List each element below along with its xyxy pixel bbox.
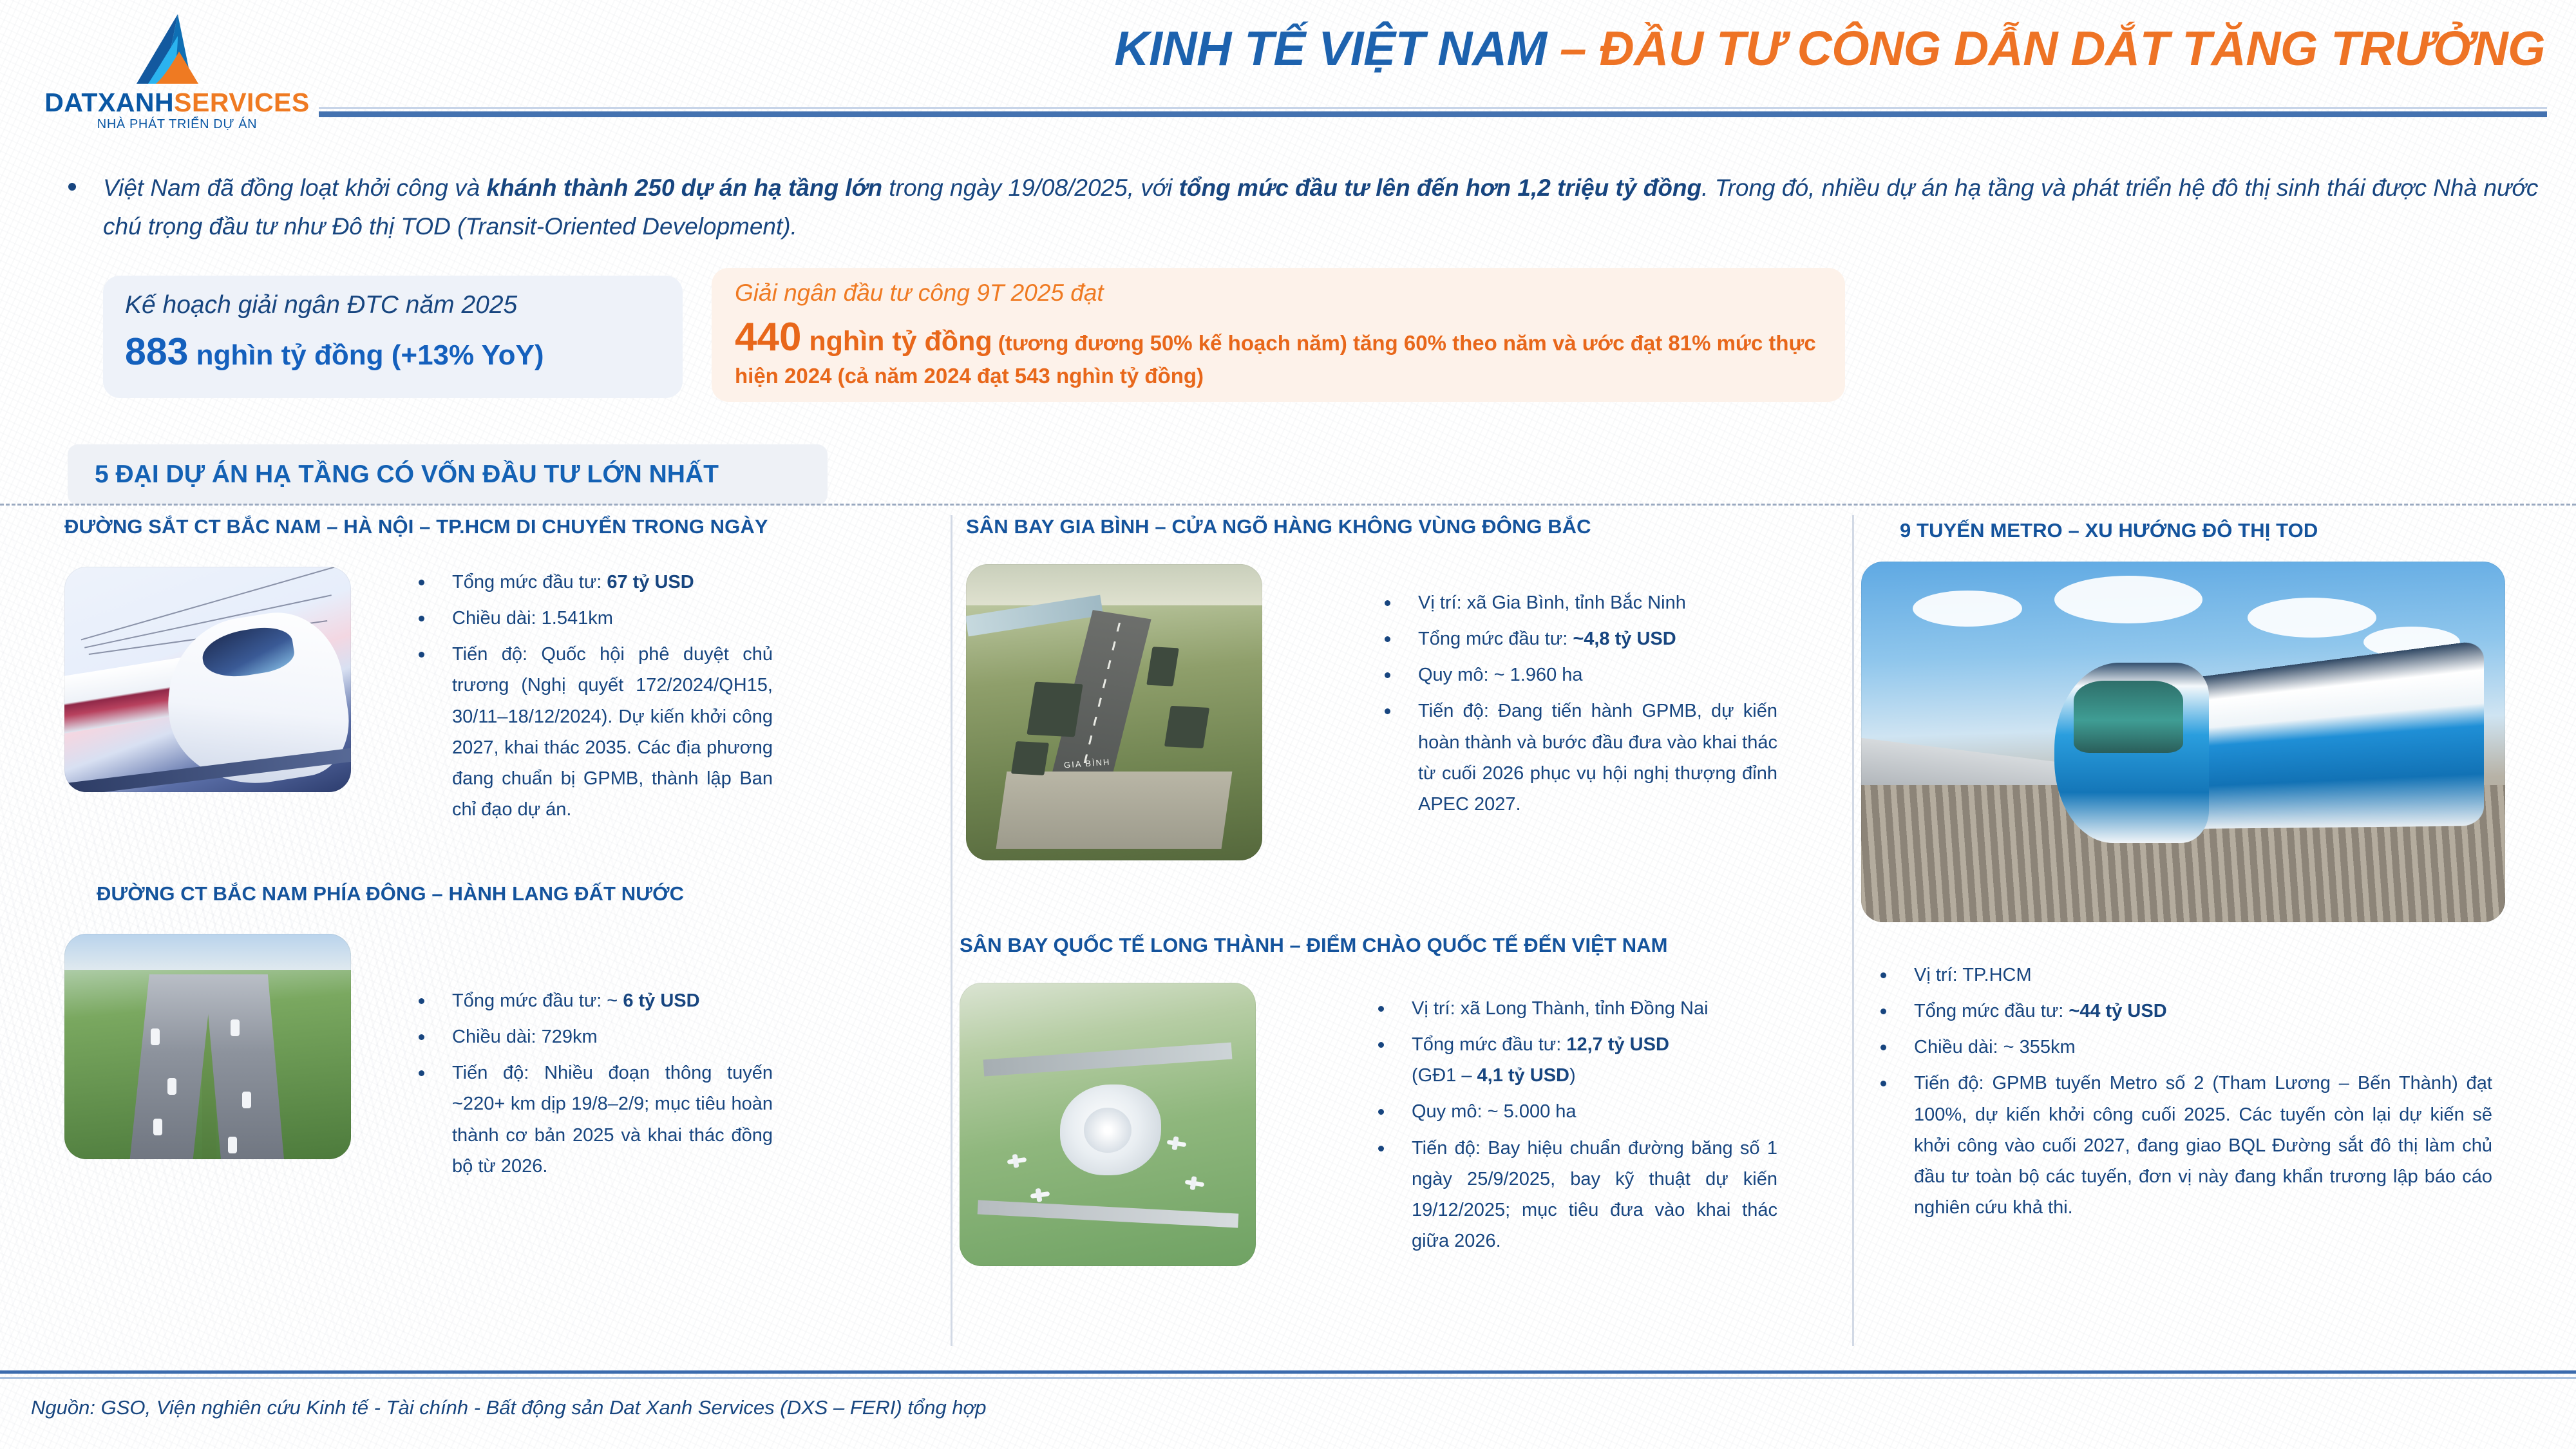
stat-plan-heading: Kế hoạch giải ngân ĐTC năm 2025 <box>125 291 663 319</box>
project-bullets-rail-ns: Tổng mức đầu tư: 67 tỷ USD Chiều dài: 1.… <box>412 567 773 830</box>
column-middle: SÂN BAY GIA BÌNH – CỬA NGÕ HÀNG KHÔNG VÙ… <box>960 504 1855 1302</box>
bullet-label: Tổng mức đầu tư: <box>1418 629 1573 649</box>
list-item: Tổng mức đầu tư: 12,7 tỷ USD(GĐ1 – 4,1 t… <box>1372 1029 1777 1091</box>
bullet-label: Tổng mức đầu tư: <box>452 572 607 592</box>
bullet-bold: 6 tỷ USD <box>623 990 699 1011</box>
list-item: Quy mô: ~ 5.000 ha <box>1372 1096 1777 1127</box>
stat-plan-unit: nghìn tỷ đồng (+13% YoY) <box>188 339 544 371</box>
sail-triangle-logo-icon <box>122 13 232 85</box>
bullet-label: Tiến độ: Bay hiệu chuẩn đường băng số 1 … <box>1412 1138 1777 1251</box>
intro-part-2: trong ngày 19/08/2025, với <box>882 175 1179 201</box>
metro-train-photo <box>1861 562 2505 922</box>
bullet-bold: 12,7 tỷ USD <box>1566 1034 1669 1055</box>
list-item: Quy mô: ~ 1.960 ha <box>1378 659 1777 690</box>
bullet-label: Tiến độ: Nhiều đoạn thông tuyến ~220+ km… <box>452 1063 773 1176</box>
bullet-label-cont: (GĐ1 – <box>1412 1065 1477 1086</box>
bullet-bold: ~44 tỷ USD <box>2069 1001 2166 1021</box>
project-card-airport-longthanh: SÂN BAY QUỐC TẾ LONG THÀNH – ĐIỂM CHÀO Q… <box>960 903 1855 1302</box>
stat-disbursed-heading: Giải ngân đầu tư công 9T 2025 đạt <box>735 279 1828 307</box>
slide-header: DATXANHSERVICES NHÀ PHÁT TRIỂN DỰ ÁN KIN… <box>0 0 2576 129</box>
page-title: KINH TẾ VIỆT NAM – ĐẦU TƯ CÔNG DẪN DẮT T… <box>1114 24 2545 73</box>
long-thanh-airport-photo <box>960 983 1256 1266</box>
logo-tagline: NHÀ PHÁT TRIỂN DỰ ÁN <box>39 117 316 132</box>
project-title-expressway-ns: ĐƯỜNG CT BẮC NAM PHÍA ĐÔNG – HÀNH LANG Đ… <box>97 882 684 905</box>
list-item: Tiến độ: Bay hiệu chuẩn đường băng số 1 … <box>1372 1133 1777 1257</box>
bullet-bold: ~4,8 tỷ USD <box>1573 629 1676 649</box>
bullet-label: Chiều dài: 729km <box>452 1027 598 1047</box>
list-item: Vị trí: TP.HCM <box>1874 960 2492 990</box>
page-title-primary: KINH TẾ VIỆT NAM <box>1114 21 1546 75</box>
list-item: Chiều dài: 1.541km <box>412 603 773 634</box>
bullet-label: Tiến độ: Đang tiến hành GPMB, dự kiến ho… <box>1418 701 1777 814</box>
footer-source-note: Nguồn: GSO, Viện nghiên cứu Kinh tế - Tà… <box>31 1396 987 1419</box>
project-bullets-expressway-ns: Tổng mức đầu tư: ~ 6 tỷ USD Chiều dài: 7… <box>412 985 773 1187</box>
bullet-label: Vị trí: xã Long Thành, tỉnh Đồng Nai <box>1412 998 1709 1019</box>
list-item: Tổng mức đầu tư: 67 tỷ USD <box>412 567 773 598</box>
bullet-label: Tiến độ: GPMB tuyến Metro số 2 (Tham Lươ… <box>1914 1073 2492 1218</box>
stat-disbursed-number: 440 <box>735 315 801 359</box>
list-item: Tiến độ: Nhiều đoạn thông tuyến ~220+ km… <box>412 1057 773 1182</box>
bullet-label: Tiến độ: Quốc hội phê duyệt chủ trương (… <box>452 644 773 820</box>
company-logo: DATXANHSERVICES NHÀ PHÁT TRIỂN DỰ ÁN <box>39 13 316 122</box>
list-item: Chiều dài: 729km <box>412 1021 773 1052</box>
intro-paragraph: Việt Nam đã đồng loạt khởi công và khánh… <box>64 169 2544 246</box>
project-card-expressway-ns: ĐƯỜNG CT BẮC NAM PHÍA ĐÔNG – HÀNH LANG Đ… <box>64 908 953 1320</box>
gia-binh-airfield-photo: GIA BÌNH <box>966 564 1262 860</box>
bullet-dot-icon <box>68 183 76 191</box>
intro-bold-1: khánh thành 250 dự án hạ tầng lớn <box>487 175 883 201</box>
intro-text: Việt Nam đã đồng loạt khởi công và khánh… <box>103 169 2544 246</box>
stat-disbursed-unit: nghìn tỷ đồng <box>801 326 992 357</box>
section-header-chip: 5 ĐẠI DỰ ÁN HẠ TẦNG CÓ VỐN ĐẦU TƯ LỚN NH… <box>68 444 828 505</box>
column-left: ĐƯỜNG SẮT CT BẮC NAM – HÀ NỘI – TP.HCM D… <box>64 515 953 1320</box>
header-rule-thin <box>319 107 2547 109</box>
bullet-label: Quy mô: ~ 1.960 ha <box>1418 665 1583 685</box>
header-rule <box>319 111 2547 117</box>
expressway-aerial-photo <box>64 934 351 1159</box>
project-title-airport-giabinh: SÂN BAY GIA BÌNH – CỬA NGÕ HÀNG KHÔNG VÙ… <box>966 515 1591 538</box>
project-card-rail-ns: ĐƯỜNG SẮT CT BẮC NAM – HÀ NỘI – TP.HCM D… <box>64 515 953 908</box>
project-title-rail-ns: ĐƯỜNG SẮT CT BẮC NAM – HÀ NỘI – TP.HCM D… <box>64 515 768 538</box>
list-item: Tiến độ: Đang tiến hành GPMB, dự kiến ho… <box>1378 696 1777 820</box>
bullet-bold-cont: 4,1 tỷ USD <box>1477 1065 1569 1086</box>
list-item: Chiều dài: ~ 355km <box>1874 1032 2492 1063</box>
stat-card-plan: Kế hoạch giải ngân ĐTC năm 2025 883 nghì… <box>103 276 683 398</box>
list-item: Tiến độ: GPMB tuyến Metro số 2 (Tham Lươ… <box>1874 1068 2492 1223</box>
intro-part-1: Việt Nam đã đồng loạt khởi công và <box>103 175 487 201</box>
project-bullets-airport-longthanh: Vị trí: xã Long Thành, tỉnh Đồng Nai Tổn… <box>1372 993 1777 1262</box>
stat-card-disbursed: Giải ngân đầu tư công 9T 2025 đạt 440 ng… <box>712 268 1845 402</box>
bullet-label: Tổng mức đầu tư: <box>1914 1001 2069 1021</box>
list-item: Vị trí: xã Long Thành, tỉnh Đồng Nai <box>1372 993 1777 1024</box>
airfield-photo-caption: GIA BÌNH <box>1063 757 1110 770</box>
logo-wordmark-primary: DATXANH <box>44 88 174 117</box>
list-item: Vị trí: xã Gia Bình, tỉnh Bắc Ninh <box>1378 587 1777 618</box>
bullet-tail-cont: ) <box>1569 1065 1576 1086</box>
stat-disbursed-value: 440 nghìn tỷ đồng (tương đương 50% kế ho… <box>735 312 1828 390</box>
footer-rule-secondary <box>0 1377 2576 1379</box>
bullet-label: Quy mô: ~ 5.000 ha <box>1412 1101 1577 1122</box>
list-item: Tổng mức đầu tư: ~44 tỷ USD <box>1874 996 2492 1027</box>
bullet-label: Chiều dài: ~ 355km <box>1914 1037 2076 1057</box>
project-bullets-metro: Vị trí: TP.HCM Tổng mức đầu tư: ~44 tỷ U… <box>1874 960 2492 1228</box>
stat-plan-number: 883 <box>125 330 188 373</box>
project-title-airport-longthanh: SÂN BAY QUỐC TẾ LONG THÀNH – ĐIỂM CHÀO Q… <box>960 934 1668 957</box>
high-speed-train-photo <box>64 567 351 792</box>
list-item: Tiến độ: Quốc hội phê duyệt chủ trương (… <box>412 639 773 825</box>
section-header-label: 5 ĐẠI DỰ ÁN HẠ TẦNG CÓ VỐN ĐẦU TƯ LỚN NH… <box>95 460 719 489</box>
project-title-metro: 9 TUYẾN METRO – XU HƯỚNG ĐÔ THỊ TOD <box>1900 519 2318 542</box>
bullet-label: Tổng mức đầu tư: <box>1412 1034 1566 1055</box>
bullet-label: Vị trí: xã Gia Bình, tỉnh Bắc Ninh <box>1418 592 1686 613</box>
list-item: Tổng mức đầu tư: ~4,8 tỷ USD <box>1378 623 1777 654</box>
footer-rule-primary <box>0 1370 2576 1374</box>
project-card-airport-giabinh: SÂN BAY GIA BÌNH – CỬA NGÕ HÀNG KHÔNG VÙ… <box>960 504 1855 903</box>
project-bullets-airport-giabinh: Vị trí: xã Gia Bình, tỉnh Bắc Ninh Tổng … <box>1378 587 1777 825</box>
logo-wordmark-secondary: SERVICES <box>174 88 310 117</box>
bullet-bold: 67 tỷ USD <box>607 572 694 592</box>
list-item: Tổng mức đầu tư: ~ 6 tỷ USD <box>412 985 773 1016</box>
page-title-secondary: – ĐẦU TƯ CÔNG DẪN DẮT TĂNG TRƯỞNG <box>1547 21 2545 75</box>
bullet-label: Tổng mức đầu tư: ~ <box>452 990 623 1011</box>
bullet-label: Vị trí: TP.HCM <box>1914 965 2032 985</box>
intro-bold-2: tổng mức đầu tư lên đến hơn 1,2 triệu tỷ… <box>1179 175 1702 201</box>
bullet-label: Chiều dài: 1.541km <box>452 608 613 629</box>
stat-plan-value: 883 nghìn tỷ đồng (+13% YoY) <box>125 330 663 374</box>
logo-wordmark: DATXANHSERVICES <box>39 88 316 118</box>
